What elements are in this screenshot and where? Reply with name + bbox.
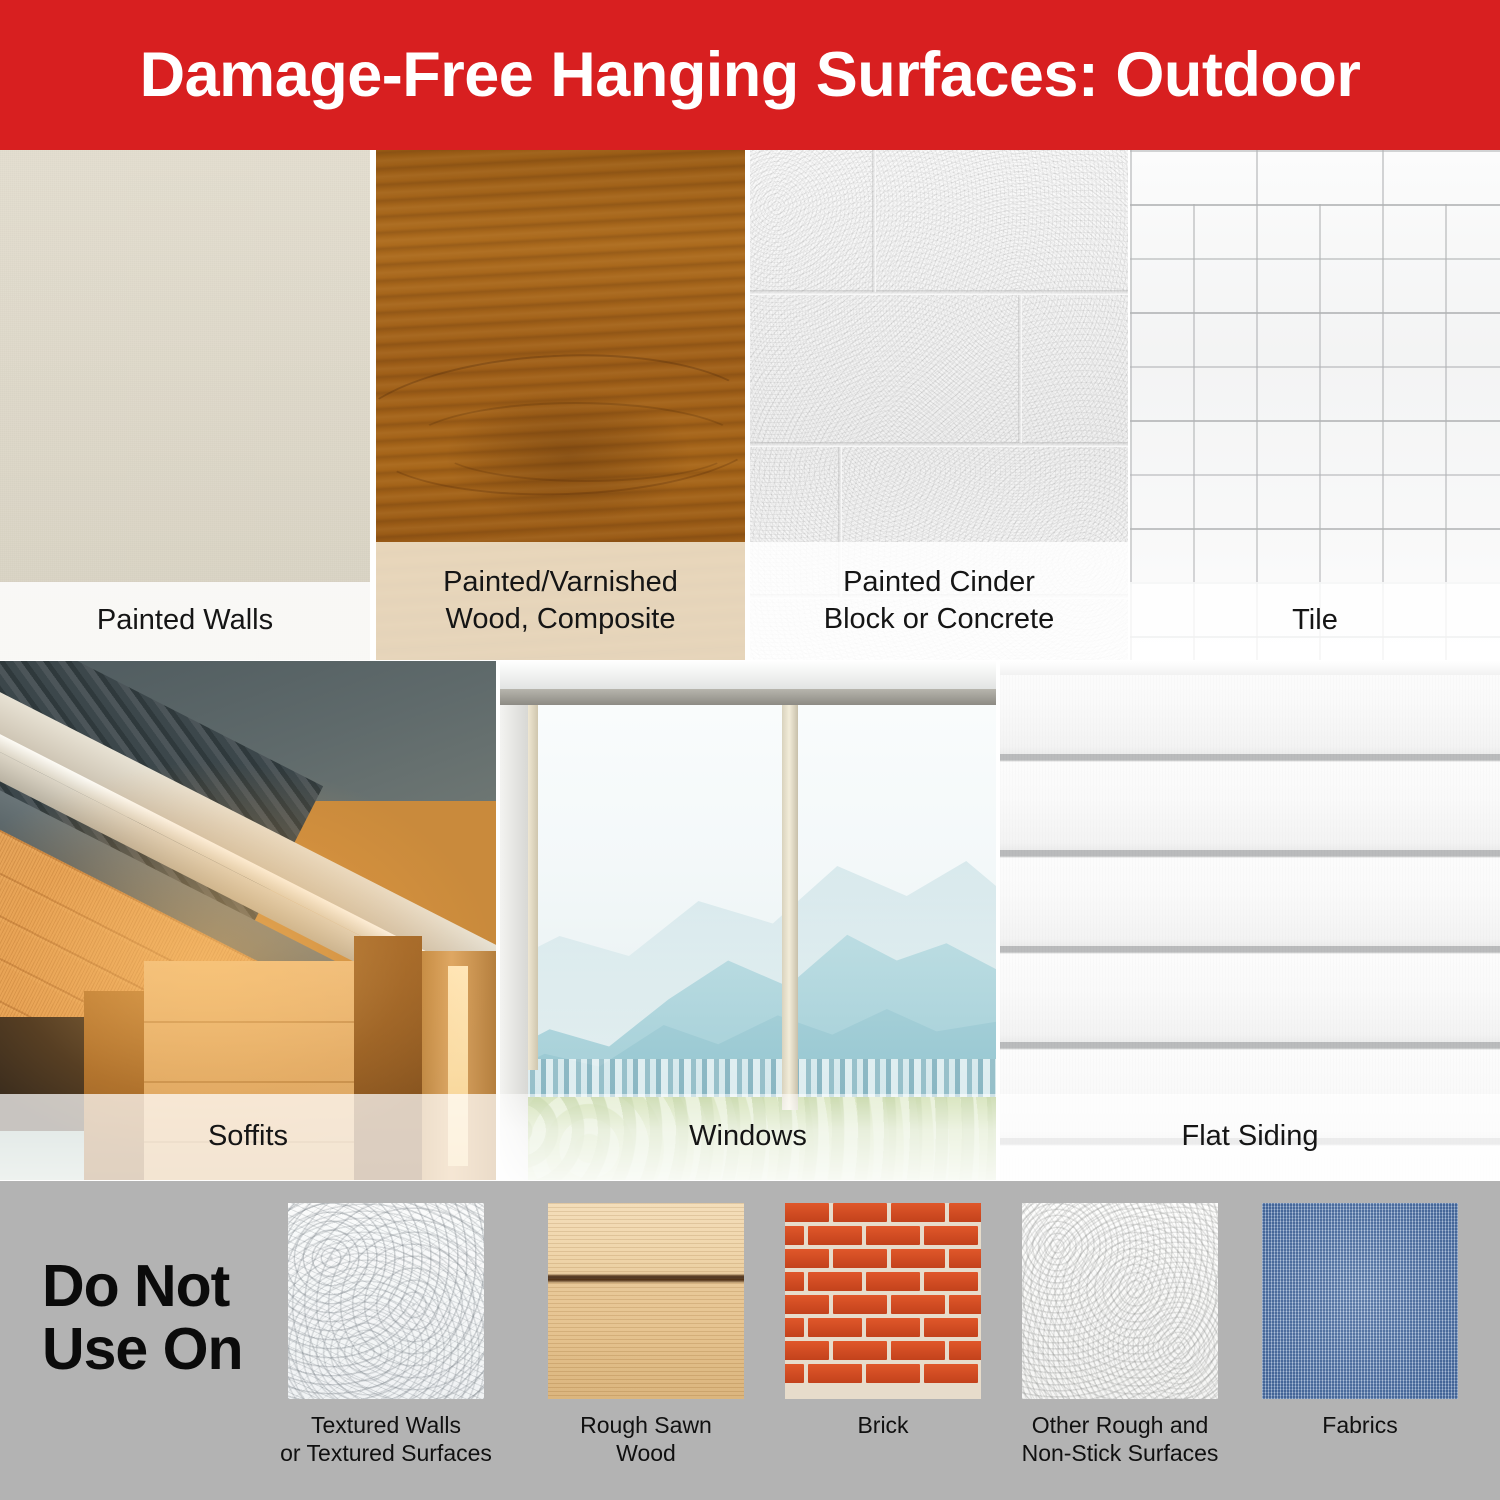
- caption-line2: Wood: [580, 1439, 712, 1467]
- caption-line1: Brick: [857, 1411, 908, 1439]
- surface-label-painted-walls: Painted Walls: [0, 582, 370, 660]
- window-mullion: [782, 697, 798, 1110]
- do-not-use-caption-brick: Brick: [857, 1411, 908, 1439]
- do-not-use-heading-line2: Use On: [42, 1318, 243, 1381]
- do-not-use-heading-line1: Do Not: [42, 1255, 243, 1318]
- surface-label-windows: Windows: [500, 1094, 996, 1180]
- window-head-rail: [500, 689, 996, 705]
- caption-line2: or Textured Surfaces: [280, 1439, 492, 1467]
- do-not-use-item-brick[interactable]: Brick: [785, 1203, 981, 1439]
- surface-label-line1: Painted Walls: [97, 602, 273, 639]
- surface-tile-windows[interactable]: Windows: [500, 661, 996, 1180]
- do-not-use-item-other-rough[interactable]: Other Rough and Non-Stick Surfaces: [1022, 1203, 1218, 1467]
- surface-label-line1: Painted Cinder: [843, 564, 1035, 601]
- surface-label-soffits: Soffits: [0, 1094, 496, 1180]
- do-not-use-item-fabrics[interactable]: Fabrics: [1262, 1203, 1458, 1439]
- surface-label-line2: Wood, Composite: [446, 601, 676, 638]
- surface-label-line1: Painted/Varnished: [443, 564, 678, 601]
- brick-thumbnail: [785, 1203, 981, 1399]
- caption-line1: Fabrics: [1322, 1411, 1397, 1439]
- surface-tile-painted-cinder-block[interactable]: Painted Cinder Block or Concrete: [750, 150, 1128, 660]
- caption-line1: Other Rough and: [1022, 1411, 1219, 1439]
- do-not-use-caption-rough-sawn-wood: Rough Sawn Wood: [580, 1411, 712, 1467]
- do-not-use-items: Textured Walls or Textured Surfaces Roug…: [280, 1203, 1500, 1483]
- rough-sawn-wood-thumbnail: [548, 1203, 744, 1399]
- surface-tile-soffits[interactable]: Soffits: [0, 661, 496, 1180]
- caption-line1: Textured Walls: [280, 1411, 492, 1439]
- surface-label-line2: Block or Concrete: [824, 601, 1055, 638]
- do-not-use-item-rough-sawn-wood[interactable]: Rough Sawn Wood: [548, 1203, 744, 1467]
- do-not-use-item-textured-walls[interactable]: Textured Walls or Textured Surfaces: [288, 1203, 484, 1467]
- surface-label-line1: Flat Siding: [1181, 1118, 1318, 1155]
- header-banner: Damage-Free Hanging Surfaces: Outdoor: [0, 0, 1500, 150]
- mortar-line-horizontal: [750, 290, 1128, 295]
- do-not-use-caption-fabrics: Fabrics: [1322, 1411, 1397, 1439]
- surface-label-line1: Tile: [1292, 602, 1338, 639]
- approved-surfaces-row-2: Soffits Windows Flat Sidin: [0, 661, 1500, 1180]
- mortar-line-horizontal: [750, 442, 1128, 447]
- surface-label-tile: Tile: [1130, 582, 1500, 660]
- denim-fabric-thumbnail: [1262, 1203, 1458, 1399]
- surface-label-painted-cinder-block: Painted Cinder Block or Concrete: [750, 542, 1128, 660]
- caption-line2: Non-Stick Surfaces: [1022, 1439, 1219, 1467]
- do-not-use-caption-other-rough: Other Rough and Non-Stick Surfaces: [1022, 1411, 1219, 1467]
- approved-surfaces-row-1: Painted Walls Painted/Varnished Wood, Co…: [0, 150, 1500, 660]
- siding-top-cap: [1000, 661, 1500, 675]
- caption-line1: Rough Sawn: [580, 1411, 712, 1439]
- mortar-line-vertical: [872, 150, 876, 292]
- surface-label-painted-varnished-wood: Painted/Varnished Wood, Composite: [376, 542, 745, 660]
- mortar-line-vertical: [1018, 295, 1022, 443]
- rough-stucco-thumbnail: [1022, 1203, 1218, 1399]
- surface-tile-flat-siding[interactable]: Flat Siding: [1000, 661, 1500, 1180]
- wood-grain-arc: [436, 412, 736, 482]
- surface-label-flat-siding: Flat Siding: [1000, 1094, 1500, 1180]
- surface-tile-tile[interactable]: Tile: [1130, 150, 1500, 660]
- window-head-trim: [500, 661, 996, 689]
- surface-label-line1: Soffits: [208, 1118, 288, 1155]
- surface-label-line1: Windows: [689, 1118, 807, 1155]
- do-not-use-caption-textured-walls: Textured Walls or Textured Surfaces: [280, 1411, 492, 1467]
- do-not-use-heading: Do Not Use On: [42, 1255, 243, 1380]
- infographic-page: Damage-Free Hanging Surfaces: Outdoor Pa…: [0, 0, 1500, 1500]
- window-frame-left: [528, 697, 538, 1070]
- surface-tile-painted-varnished-wood[interactable]: Painted/Varnished Wood, Composite: [376, 150, 745, 660]
- surface-tile-painted-walls[interactable]: Painted Walls: [0, 150, 370, 660]
- page-title: Damage-Free Hanging Surfaces: Outdoor: [140, 44, 1361, 107]
- textured-wall-thumbnail: [288, 1203, 484, 1399]
